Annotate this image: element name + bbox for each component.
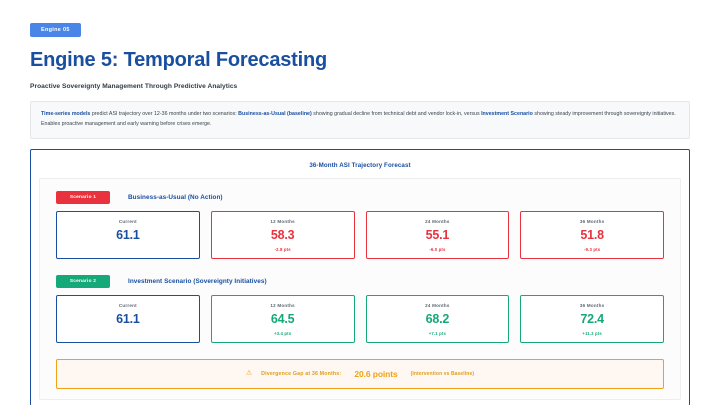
divergence-note: (Intervention vs Baseline) [411,371,474,377]
metric-value: 51.8 [580,229,604,242]
scenario-chip-1: Scenario 1 [56,191,110,204]
divergence-value: 20.6 points [354,369,397,379]
warning-triangle-icon: ⚠ [246,370,252,377]
intro-emphasis-2: Business-as-Usual (baseline) [238,111,312,117]
metric-value: 68.2 [426,313,450,326]
engine-badge: Engine 05 [30,23,81,37]
metric-delta: +3.4 pts [274,331,291,336]
metric-card[interactable]: 36 Months 72.4 +11.3 pts [520,295,664,343]
metric-card[interactable]: 12 Months 64.5 +3.4 pts [211,295,355,343]
divergence-label: Divergence Gap at 36 Months: [261,371,341,377]
metric-card[interactable]: 36 Months 51.8 -9.3 pts [520,211,664,259]
page-title: Engine 5: Temporal Forecasting [30,49,690,72]
scenario-name-1: Business-as-Usual (No Action) [128,194,223,201]
metric-label: 24 Months [425,303,450,308]
scenario-chip-2: Scenario 2 [56,275,110,288]
metric-delta: -2.8 pts [275,247,291,252]
scenario-header-2: Scenario 2 Investment Scenario (Sovereig… [56,275,664,288]
divergence-banner: ⚠ Divergence Gap at 36 Months: 20.6 poin… [56,359,664,389]
forecast-panel: 36-Month ASI Trajectory Forecast Scenari… [30,149,690,405]
metric-delta: +11.3 pts [582,331,602,336]
metric-label: 12 Months [270,219,295,224]
metric-value: 61.1 [116,229,140,242]
metric-label: 12 Months [270,303,295,308]
scenario-header-1: Scenario 1 Business-as-Usual (No Action) [56,191,664,204]
intro-text-2: showing gradual decline from technical d… [312,111,481,117]
metric-delta: -6.0 pts [429,247,445,252]
intro-emphasis-1: Time-series models [41,111,90,117]
metric-delta: +7.1 pts [429,331,446,336]
panel-title: 36-Month ASI Trajectory Forecast [39,158,681,178]
metric-card[interactable]: 24 Months 55.1 -6.0 pts [366,211,510,259]
intro-text-1: predict ASI trajectory over 12-36 months… [90,111,238,117]
page-root: Engine 05 Engine 5: Temporal Forecasting… [0,0,720,405]
metric-value: 72.4 [580,313,604,326]
metric-card[interactable]: 24 Months 68.2 +7.1 pts [366,295,510,343]
intro-emphasis-3: Investment Scenario [481,111,533,117]
metric-label: Current [119,303,137,308]
metric-label: 36 Months [580,219,605,224]
scenario-1-card-row: Current 61.1 12 Months 58.3 -2.8 pts 24 … [56,211,664,259]
metric-value: 55.1 [426,229,450,242]
page-subtitle: Proactive Sovereignty Management Through… [30,83,690,90]
metric-card[interactable]: Current 61.1 [56,295,200,343]
metric-label: 36 Months [580,303,605,308]
metric-label: Current [119,219,137,224]
metric-value: 64.5 [271,313,295,326]
metric-value: 58.3 [271,229,295,242]
metric-card[interactable]: Current 61.1 [56,211,200,259]
metric-label: 24 Months [425,219,450,224]
panel-inner: Scenario 1 Business-as-Usual (No Action)… [39,178,681,400]
metric-card[interactable]: 12 Months 58.3 -2.8 pts [211,211,355,259]
scenario-2-card-row: Current 61.1 12 Months 64.5 +3.4 pts 24 … [56,295,664,343]
metric-value: 61.1 [116,313,140,326]
intro-note: Time-series models predict ASI trajector… [30,101,690,139]
scenario-name-2: Investment Scenario (Sovereignty Initiat… [128,278,267,285]
metric-delta: -9.3 pts [584,247,600,252]
